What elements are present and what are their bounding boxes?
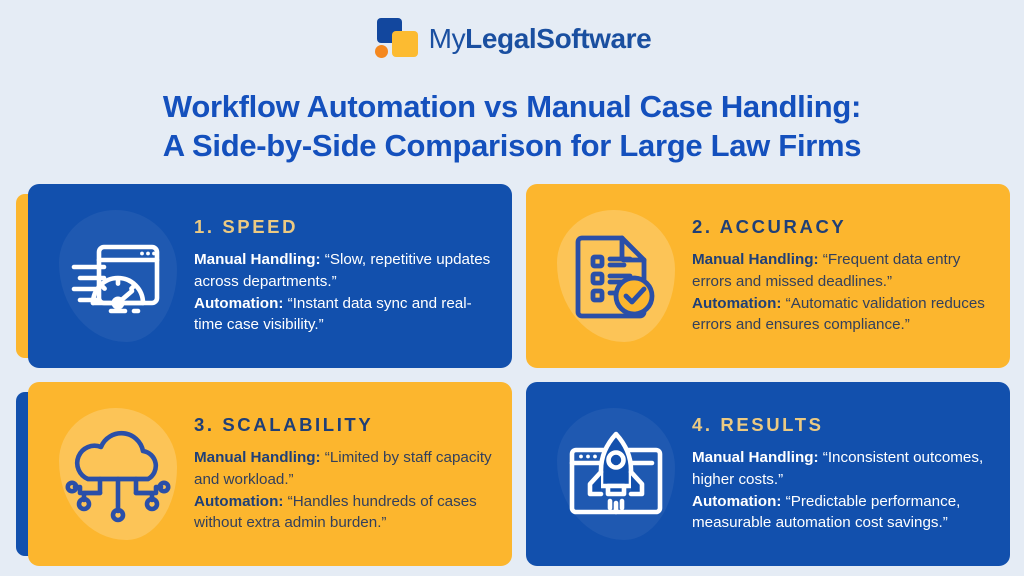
logo-yellow-square-icon: [392, 31, 418, 57]
automation-line-scalability: Automation: “Handles hundreds of cases w…: [194, 491, 492, 535]
page-title-line-1: Workflow Automation vs Manual Case Handl…: [0, 88, 1024, 127]
manual-line-results: Manual Handling: “Inconsistent outcomes,…: [692, 447, 990, 491]
card-heading-accuracy: 2. ACCURACY: [692, 216, 990, 238]
card-wrapper-results: 4. RESULTS Manual Handling: “Inconsisten…: [526, 382, 1010, 566]
brand-wordmark: MyLegalSoftware: [429, 23, 652, 55]
brand-logo[interactable]: MyLegalSoftware: [373, 18, 652, 60]
card-speed[interactable]: 1. SPEED Manual Handling: “Slow, repetit…: [28, 184, 512, 368]
wordmark-prefix: My: [429, 23, 466, 54]
card-body-speed: 1. SPEED Manual Handling: “Slow, repetit…: [194, 216, 496, 337]
card-accuracy[interactable]: 2. ACCURACY Manual Handling: “Frequent d…: [526, 184, 1010, 368]
card-body-results: 4. RESULTS Manual Handling: “Inconsisten…: [692, 414, 994, 535]
card-text-results: Manual Handling: “Inconsistent outcomes,…: [692, 447, 990, 535]
icon-slot-accuracy: [540, 190, 692, 362]
card-heading-speed: 1. SPEED: [194, 216, 492, 238]
icon-slot-speed: [42, 190, 194, 362]
card-wrapper-accuracy: 2. ACCURACY Manual Handling: “Frequent d…: [526, 184, 1010, 368]
card-heading-scalability: 3. SCALABILITY: [194, 414, 492, 436]
automation-line-results: Automation: “Predictable performance, me…: [692, 491, 990, 535]
comparison-card-grid: 1. SPEED Manual Handling: “Slow, repetit…: [28, 184, 1010, 566]
logo-bar: MyLegalSoftware: [0, 0, 1024, 78]
automation-label-speed: Automation:: [194, 295, 283, 312]
card-results[interactable]: 4. RESULTS Manual Handling: “Inconsisten…: [526, 382, 1010, 566]
manual-line-accuracy: Manual Handling: “Frequent data entry er…: [692, 249, 990, 293]
card-wrapper-scalability: 3. SCALABILITY Manual Handling: “Limited…: [28, 382, 512, 566]
card-heading-results: 4. RESULTS: [692, 414, 990, 436]
automation-label-results: Automation:: [692, 493, 781, 510]
manual-label-speed: Manual Handling:: [194, 251, 321, 268]
checklist-document-check-icon: [566, 226, 666, 326]
automation-label-accuracy: Automation:: [692, 295, 781, 312]
card-text-speed: Manual Handling: “Slow, repetitive updat…: [194, 249, 492, 337]
rocket-browser-launch-icon: [564, 424, 668, 524]
automation-line-speed: Automation: “Instant data sync and real-…: [194, 293, 492, 337]
page-title-line-2: A Side-by-Side Comparison for Large Law …: [0, 127, 1024, 166]
card-body-scalability: 3. SCALABILITY Manual Handling: “Limited…: [194, 414, 496, 535]
logo-orange-dot-icon: [375, 45, 388, 58]
manual-line-speed: Manual Handling: “Slow, repetitive updat…: [194, 249, 492, 293]
automation-label-scalability: Automation:: [194, 493, 283, 510]
card-text-scalability: Manual Handling: “Limited by staff capac…: [194, 447, 492, 535]
card-wrapper-speed: 1. SPEED Manual Handling: “Slow, repetit…: [28, 184, 512, 368]
cloud-network-nodes-icon: [64, 424, 172, 524]
card-body-accuracy: 2. ACCURACY Manual Handling: “Frequent d…: [692, 216, 994, 337]
manual-line-scalability: Manual Handling: “Limited by staff capac…: [194, 447, 492, 491]
automation-line-accuracy: Automation: “Automatic validation reduce…: [692, 293, 990, 337]
speedometer-browser-icon: [66, 226, 170, 326]
card-scalability[interactable]: 3. SCALABILITY Manual Handling: “Limited…: [28, 382, 512, 566]
manual-label-scalability: Manual Handling:: [194, 449, 321, 466]
manual-label-results: Manual Handling:: [692, 449, 819, 466]
page-title: Workflow Automation vs Manual Case Handl…: [0, 88, 1024, 166]
card-text-accuracy: Manual Handling: “Frequent data entry er…: [692, 249, 990, 337]
icon-slot-results: [540, 388, 692, 560]
icon-slot-scalability: [42, 388, 194, 560]
mylegalsoftware-logo-mark: [373, 18, 420, 60]
wordmark-suffix: LegalSoftware: [465, 23, 651, 54]
manual-label-accuracy: Manual Handling:: [692, 251, 819, 268]
